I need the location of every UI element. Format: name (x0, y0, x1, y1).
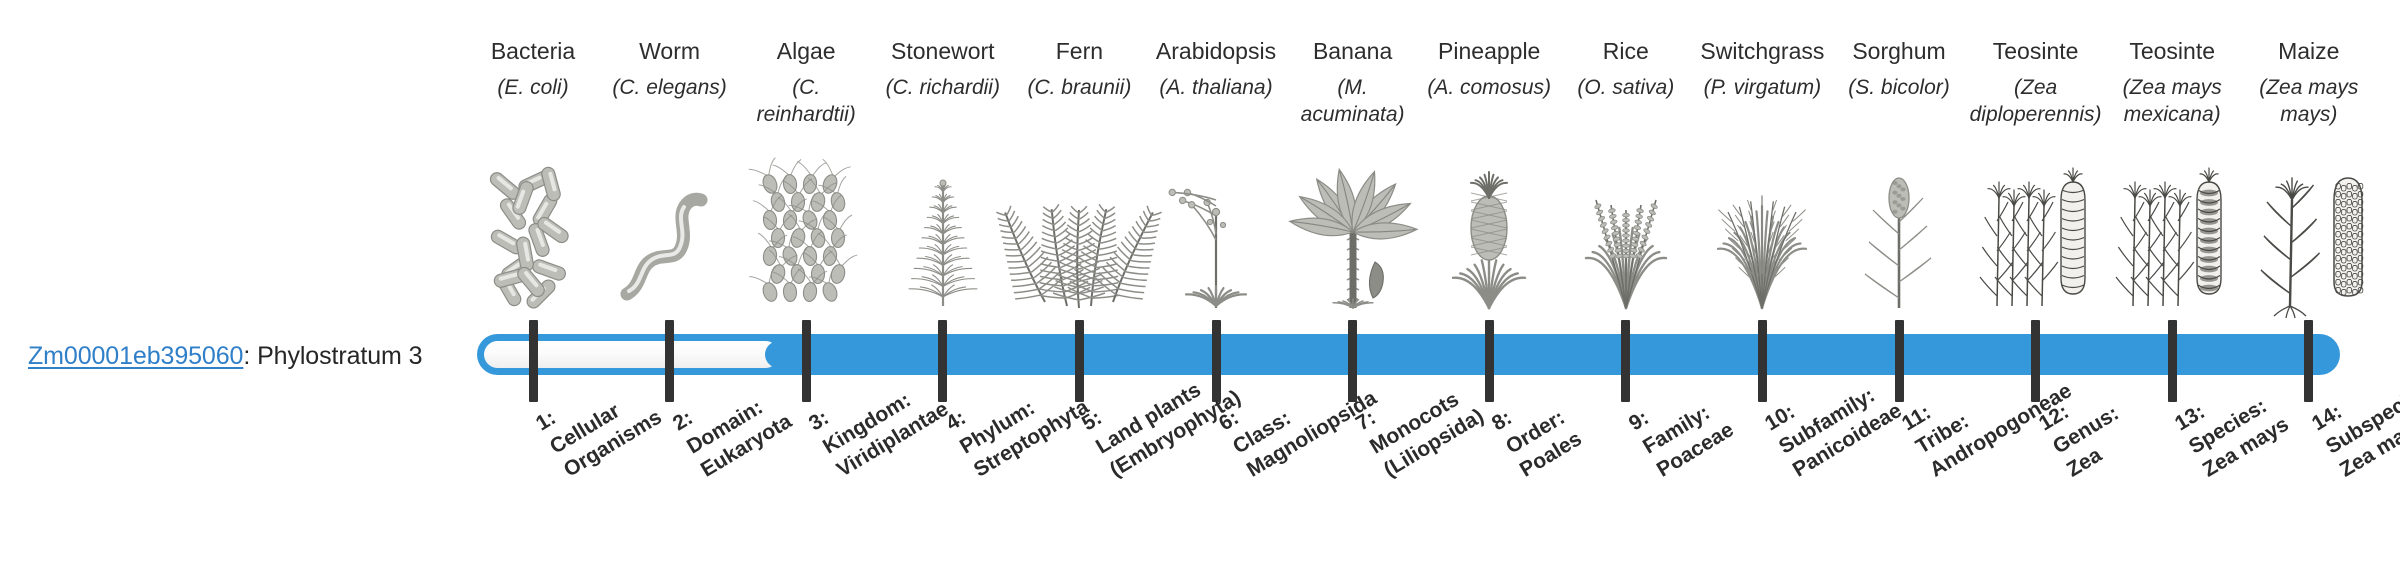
gene-caption: Zm00001eb395060: Phylostratum 3 (28, 342, 422, 371)
phylostratum-value: Phylostratum 3 (257, 342, 422, 370)
maize-icon (2239, 168, 2379, 310)
species-scientific-name: (Zea mays mays) (2243, 74, 2375, 128)
algae-icon (736, 168, 876, 310)
banana-icon (1283, 168, 1423, 310)
species-column: Pineapple (A. comosus) (1423, 36, 1555, 101)
species-column: Teosinte (Zea mays mexicana) (2106, 36, 2238, 128)
gene-caption-separator: : (243, 342, 257, 370)
bacteria-icon (463, 168, 603, 310)
species-scientific-name: (C. richardii) (877, 74, 1009, 101)
species-scientific-name: (A. comosus) (1423, 74, 1555, 101)
species-scientific-name: (Zea mays mexicana) (2106, 74, 2238, 128)
species-scientific-name: (S. bicolor) (1833, 74, 1965, 101)
phylostratum-timeline: Zm00001eb395060: Phylostratum 3 Bacteria… (0, 0, 2400, 580)
species-common-name: Rice (1560, 36, 1692, 66)
species-scientific-name: (C. elegans) (604, 74, 736, 101)
species-common-name: Worm (604, 36, 736, 66)
gene-id-link[interactable]: Zm00001eb395060 (28, 342, 243, 370)
species-column: Teosinte (Zea diploperennis) (1970, 36, 2102, 128)
species-scientific-name: (A. thaliana) (1150, 74, 1282, 101)
rice-icon (1556, 168, 1696, 310)
fern-icon (1009, 168, 1149, 310)
stonewort-icon (873, 168, 1013, 310)
teosinte-diploperennis-icon (1966, 168, 2106, 310)
species-scientific-name: (P. virgatum) (1696, 74, 1828, 101)
species-common-name: Banana (1287, 36, 1419, 66)
species-column: Bacteria (E. coli) (467, 36, 599, 101)
species-column: Arabidopsis (A. thaliana) (1150, 36, 1282, 101)
worm-icon (600, 168, 740, 310)
species-column: Maize (Zea mays mays) (2243, 36, 2375, 128)
species-column: Algae (C. reinhardtii) (740, 36, 872, 128)
species-scientific-name: (O. sativa) (1560, 74, 1692, 101)
species-common-name: Arabidopsis (1150, 36, 1282, 66)
species-common-name: Stonewort (877, 36, 1009, 66)
species-column: Banana (M. acuminata) (1287, 36, 1419, 128)
species-common-name: Teosinte (1970, 36, 2102, 66)
species-column: Worm (C. elegans) (604, 36, 736, 101)
species-column: Fern (C. braunii) (1013, 36, 1145, 101)
species-scientific-name: (C. braunii) (1013, 74, 1145, 101)
phylostratum-tick[interactable] (529, 320, 538, 402)
species-scientific-name: (Zea diploperennis) (1970, 74, 2102, 128)
species-common-name: Teosinte (2106, 36, 2238, 66)
species-scientific-name: (C. reinhardtii) (740, 74, 872, 128)
species-common-name: Algae (740, 36, 872, 66)
species-column: Stonewort (C. richardii) (877, 36, 1009, 101)
teosinte-mexicana-icon (2102, 168, 2242, 310)
species-common-name: Sorghum (1833, 36, 1965, 66)
species-common-name: Maize (2243, 36, 2375, 66)
species-common-name: Fern (1013, 36, 1145, 66)
species-scientific-name: (E. coli) (467, 74, 599, 101)
pineapple-icon (1419, 168, 1559, 310)
switchgrass-icon (1692, 168, 1832, 310)
sorghum-icon (1829, 168, 1969, 310)
species-column: Switchgrass (P. virgatum) (1696, 36, 1828, 101)
species-scientific-name: (M. acuminata) (1287, 74, 1419, 128)
species-common-name: Pineapple (1423, 36, 1555, 66)
species-common-name: Switchgrass (1696, 36, 1828, 66)
species-column: Sorghum (S. bicolor) (1833, 36, 1965, 101)
arabidopsis-icon (1146, 168, 1286, 310)
species-common-name: Bacteria (467, 36, 599, 66)
species-column: Rice (O. sativa) (1560, 36, 1692, 101)
